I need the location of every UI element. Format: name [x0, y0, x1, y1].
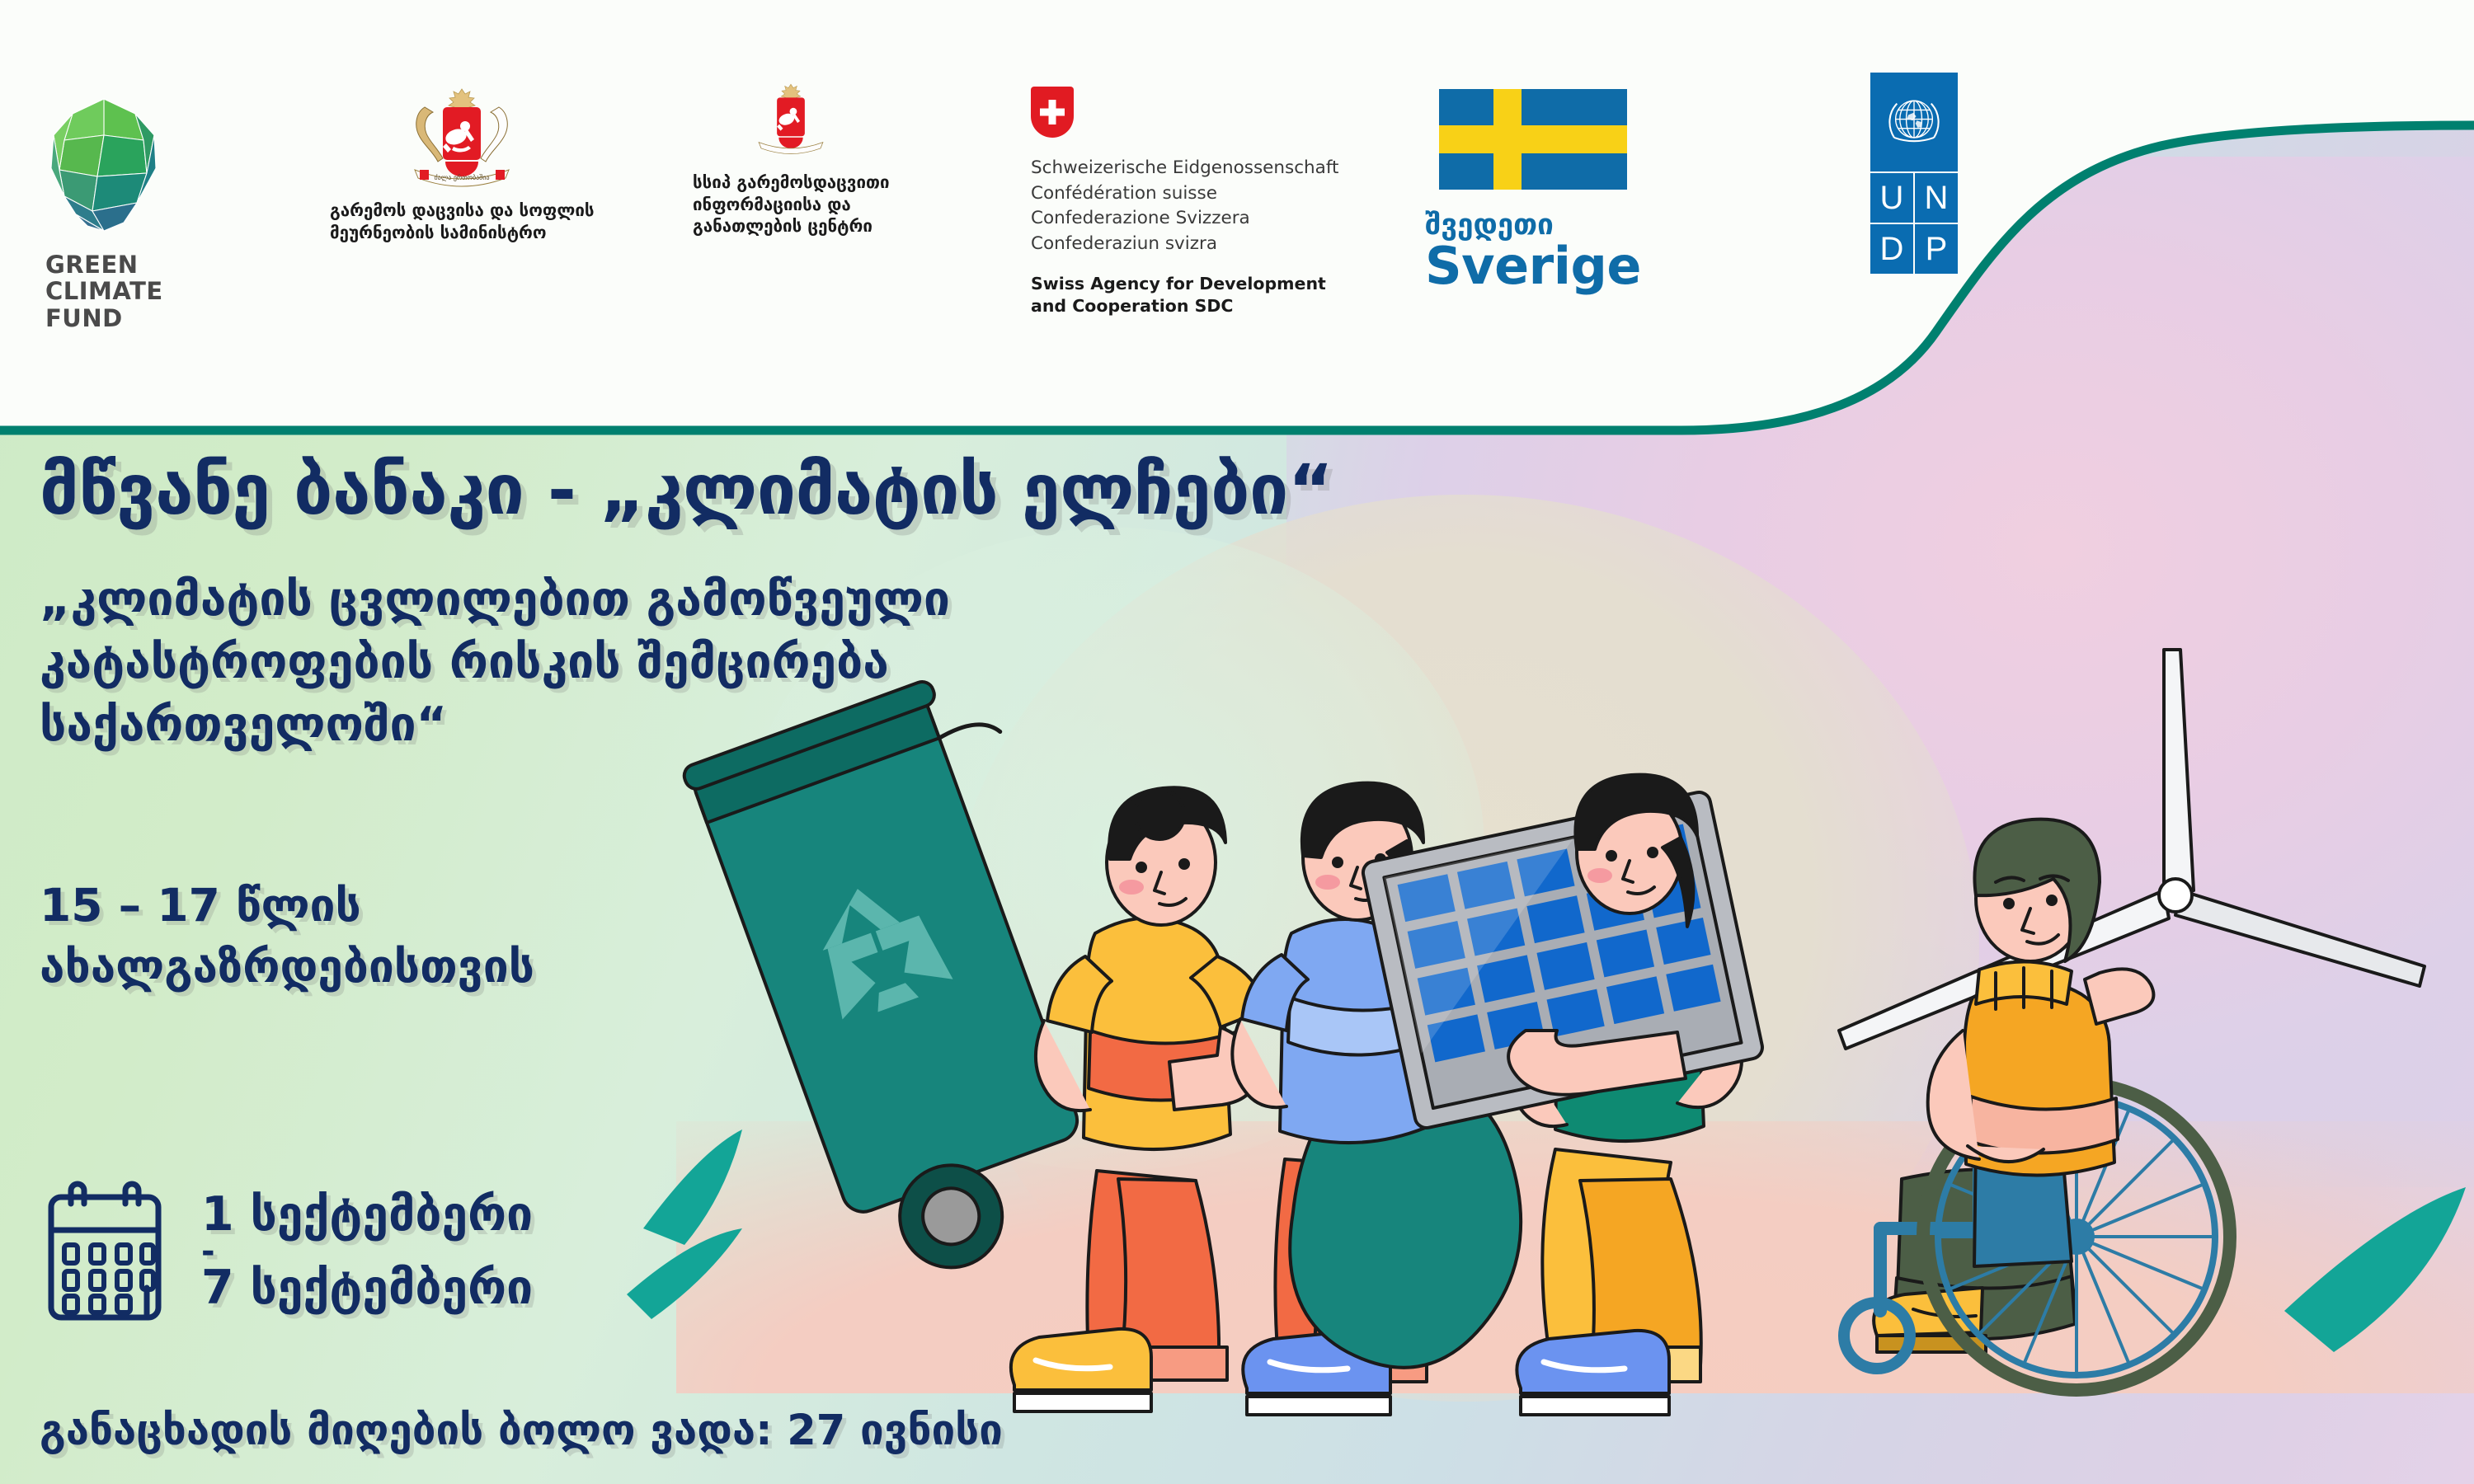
header-logos-bar: GREEN CLIMATE FUND	[0, 0, 2474, 429]
age-range-line-2: ახალგაზრდებისთვის	[40, 937, 534, 998]
georgia-coat-of-arms-small-icon	[745, 76, 836, 162]
gcf-wordmark: GREEN CLIMATE FUND	[45, 251, 163, 331]
swiss-agency-name: Swiss Agency for Development and Coopera…	[1031, 273, 1338, 318]
camp-date-start: 1 სექტემბერი	[201, 1190, 533, 1240]
logo-ministry-environment: ძალა ერთობაშია გარემოს დაცვისა და სოფლის…	[330, 82, 595, 243]
camp-date-end: 7 სექტემბერი	[201, 1263, 533, 1313]
age-range-line-1: 15 – 17 წლის	[40, 876, 534, 937]
camp-date-text: 1 სექტემბერი - 7 სექტემბერი	[201, 1190, 533, 1314]
undp-letter-d: D	[1870, 224, 1913, 274]
logo-sweden: შვედეთი Sverige	[1425, 89, 1641, 292]
eiec-caption-line-2: ინფორმაციისა და	[693, 194, 890, 216]
subtitle-line-1: „კლიმატის ცვლილებით გამოწვეული	[40, 569, 950, 632]
logo-environmental-info-center: სსიპ გარემოსდაცვითი ინფორმაციისა და განა…	[693, 76, 890, 237]
undp-letter-n: N	[1915, 173, 1958, 223]
undp-letters: U N D P	[1870, 173, 1958, 274]
subtitle-line-2: კატასტროფების რისკის შემცირება	[40, 632, 950, 694]
page-title: მწვანე ბანაკი - „კლიმატის ელჩები“	[40, 449, 1333, 530]
swiss-line-de: Schweizerische Eidgenossenschaft	[1031, 156, 1338, 181]
poster-root: GREEN CLIMATE FUND	[0, 0, 2474, 1484]
logo-green-climate-fund: GREEN CLIMATE FUND	[45, 97, 163, 331]
swiss-flag-icon	[1031, 87, 1074, 138]
eiec-caption-line-1: სსიპ გარემოსდაცვითი	[693, 171, 890, 194]
swiss-line-fr: Confédération suisse	[1031, 181, 1338, 207]
un-emblem-icon	[1870, 73, 1958, 171]
eiec-caption: სსიპ გარემოსდაცვითი ინფორმაციისა და განა…	[693, 171, 890, 237]
sweden-flag-icon	[1439, 89, 1627, 190]
swiss-agency-line-2: and Cooperation SDC	[1031, 295, 1338, 317]
gcf-line-2: CLIMATE	[45, 278, 163, 304]
gcf-line-1: GREEN	[45, 251, 163, 278]
poster-subtitle: „კლიმატის ცვლილებით გამოწვეული კატასტროფ…	[40, 569, 950, 756]
ministry-caption: გარემოს დაცვისა და სოფლის მეურნეობის სამ…	[330, 200, 595, 243]
calendar-icon	[43, 1179, 167, 1324]
undp-letter-u: U	[1870, 173, 1913, 223]
swiss-agency-line-1: Swiss Agency for Development	[1031, 273, 1338, 295]
undp-letter-p: P	[1915, 224, 1958, 274]
age-range: 15 – 17 წლის ახალგაზრდებისთვის	[40, 876, 534, 997]
camp-date-separator: -	[201, 1240, 533, 1264]
logo-swiss-sdc: Schweizerische Eidgenossenschaft Confédé…	[1031, 87, 1338, 318]
camp-dates: 1 სექტემბერი - 7 სექტემბერი	[43, 1179, 533, 1324]
subtitle-line-3: საქართველოში“	[40, 694, 950, 757]
gcf-line-3: FUND	[45, 305, 163, 331]
sweden-label-en: Sverige	[1425, 240, 1641, 292]
svg-text:ძალა ერთობაშია: ძალა ერთობაშია	[435, 173, 490, 181]
logo-undp: U N D P	[1870, 73, 1958, 274]
georgia-coat-of-arms-icon: ძალა ერთობაშია	[400, 82, 524, 190]
ministry-caption-line-1: გარემოს დაცვისა და სოფლის	[330, 200, 595, 222]
swiss-languages: Schweizerische Eidgenossenschaft Confédé…	[1031, 156, 1338, 256]
gcf-gem-icon	[46, 97, 162, 233]
swiss-line-rm: Confederaziun svizra	[1031, 232, 1338, 257]
swiss-line-it: Confederazione Svizzera	[1031, 206, 1338, 232]
eiec-caption-line-3: განათლების ცენტრი	[693, 215, 890, 237]
ministry-caption-line-2: მეურნეობის სამინისტრო	[330, 222, 595, 244]
application-deadline: განაცხადის მიღების ბოლო ვადა: 27 ივნისი	[40, 1407, 1003, 1455]
